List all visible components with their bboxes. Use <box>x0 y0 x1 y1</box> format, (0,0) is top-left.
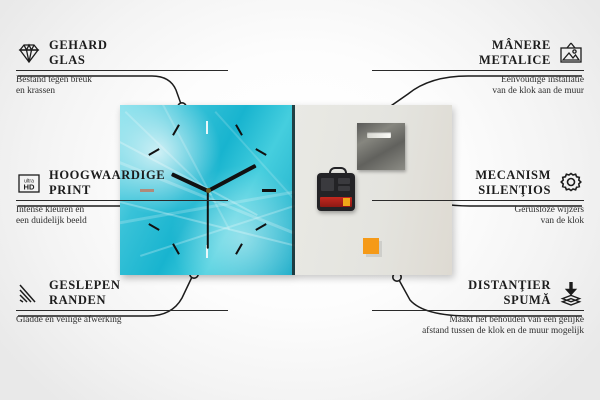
feature-description: Intense kleuren en een duidelijk beeld <box>16 205 228 228</box>
desc-line-1: Gladde en veilige afwerking <box>16 315 228 326</box>
desc-line-2: van de klok aan de muur <box>372 86 584 97</box>
svg-text:HD: HD <box>24 182 35 191</box>
title-line-2: SILENŢIOS <box>475 183 551 198</box>
desc-line-1: Geruisloze wijzers <box>372 205 584 216</box>
title-line-2: RANDEN <box>49 293 121 308</box>
feature-mecanism-silentios: MECANISM SILENŢIOS Geruisloze wijzers va… <box>372 168 584 228</box>
feature-header: GEHARD GLAS <box>16 38 228 67</box>
divider <box>16 70 228 71</box>
feature-header: MÂNERE METALICE <box>372 38 584 67</box>
title-line-2: SPUMĂ <box>468 293 551 308</box>
feature-header: MECANISM SILENŢIOS <box>372 168 584 197</box>
divider <box>372 200 584 201</box>
title-line-1: MÂNERE <box>479 38 551 53</box>
feature-title: GESLEPEN RANDEN <box>49 278 121 307</box>
feature-description: Bestand tegen breuk en krassen <box>16 75 228 98</box>
feature-title: DISTANŢIER SPUMĂ <box>468 278 551 307</box>
foam-spacer <box>363 238 379 254</box>
spacer-arrow-icon <box>558 280 584 306</box>
beveled-edges-icon <box>16 280 42 306</box>
picture-frame-icon <box>558 40 584 66</box>
feature-description: Maakt het behouden van een gelijke afsta… <box>358 315 584 338</box>
title-line-1: HOOGWAARDIGE <box>49 168 165 183</box>
feature-title: MECANISM SILENŢIOS <box>475 168 551 197</box>
battery <box>320 197 352 207</box>
infographic-canvas: GEHARD GLAS Bestand tegen breuk en krass… <box>0 0 600 400</box>
desc-line-1: Intense kleuren en <box>16 205 228 216</box>
gear-icon <box>558 170 584 196</box>
feature-title: GEHARD GLAS <box>49 38 107 67</box>
hanger-slot <box>367 132 391 138</box>
feature-manere-metalice: MÂNERE METALICE Eenvoudige installatie v… <box>372 38 584 98</box>
feature-header: DISTANŢIER SPUMĂ <box>372 278 584 307</box>
title-line-2: PRINT <box>49 183 165 198</box>
title-line-1: MECANISM <box>475 168 551 183</box>
desc-line-2: van de klok <box>372 216 584 227</box>
feature-title: MÂNERE METALICE <box>479 38 551 67</box>
ultra-hd-icon: ultra HD <box>16 170 42 196</box>
desc-line-1: Eenvoudige installatie <box>372 75 584 86</box>
feature-description: Geruisloze wijzers van de klok <box>372 205 584 228</box>
clock-mechanism <box>317 173 355 211</box>
feature-hoogwaardige-print: ultra HD HOOGWAARDIGE PRINT Intense kleu… <box>16 168 228 228</box>
desc-line-2: en krassen <box>16 86 228 97</box>
title-line-2: METALICE <box>479 53 551 68</box>
divider <box>16 200 228 201</box>
title-line-2: GLAS <box>49 53 107 68</box>
diamond-icon <box>16 40 42 66</box>
feature-header: ultra HD HOOGWAARDIGE PRINT <box>16 168 228 197</box>
desc-line-1: Bestand tegen breuk <box>16 75 228 86</box>
metal-hanger-plate <box>357 123 405 170</box>
feature-header: GESLEPEN RANDEN <box>16 278 228 307</box>
divider <box>16 310 228 311</box>
title-line-1: GEHARD <box>49 38 107 53</box>
desc-line-2: een duidelijk beeld <box>16 216 228 227</box>
battery-terminal <box>343 198 350 206</box>
feature-title: HOOGWAARDIGE PRINT <box>49 168 165 197</box>
divider <box>372 310 584 311</box>
desc-line-2: afstand tussen de klok en de muur mogeli… <box>358 326 584 337</box>
title-line-1: DISTANŢIER <box>468 278 551 293</box>
desc-line-1: Maakt het behouden van een gelijke <box>358 315 584 326</box>
divider <box>372 70 584 71</box>
feature-description: Eenvoudige installatie van de klok aan d… <box>372 75 584 98</box>
feature-distantier-spuma: DISTANŢIER SPUMĂ Maakt het behouden van … <box>372 278 584 338</box>
title-line-1: GESLEPEN <box>49 278 121 293</box>
feature-description: Gladde en veilige afwerking <box>16 315 228 326</box>
mechanism-hook <box>329 167 347 178</box>
feature-geslepen-randen: GESLEPEN RANDEN Gladde en veilige afwerk… <box>16 278 228 326</box>
feature-gehard-glas: GEHARD GLAS Bestand tegen breuk en krass… <box>16 38 228 98</box>
